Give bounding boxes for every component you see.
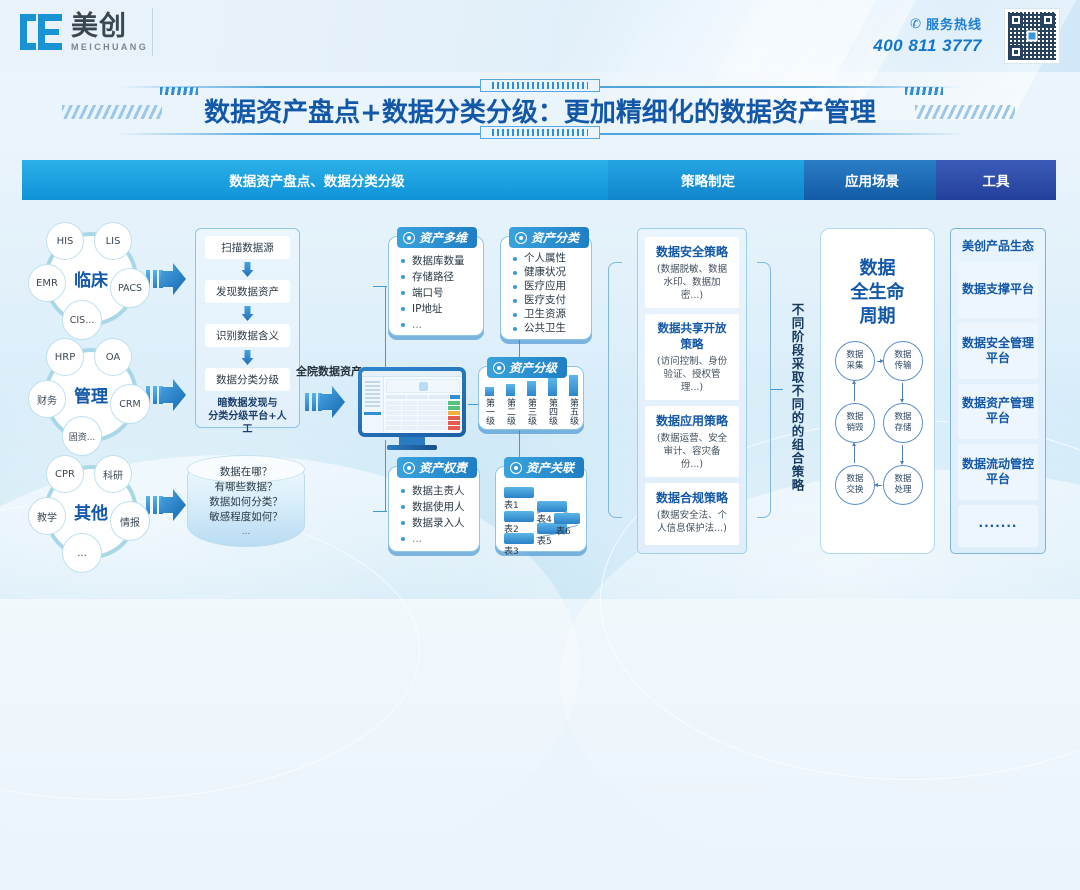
nav-step-4[interactable]: 工具 [936,160,1056,200]
policy-desc: (数据脱敏、数据水印、数据加密...) [653,263,731,302]
cluster-bubble[interactable]: PACS [110,268,150,308]
cluster-bubble[interactable]: 情报 [110,501,150,541]
card-header: 资产权责 [397,457,477,478]
policy-title: 数据应用策略 [653,412,731,429]
policy-card: 数据应用策略 (数据运营、安全审计、容灾备份...) [645,406,739,477]
asset-card-classification: 资产分类 个人属性 健康状况 医疗应用 医疗支付 卫生资源 公共卫生 [500,236,592,340]
policy-desc: (数据安全法、个人信息保护法...) [653,509,731,535]
grade-level: 第二级 [501,384,519,425]
card-header: 资产多维 [397,227,477,248]
brand-name-en: MEICHUANG [71,43,148,52]
lifecycle-arrow-icon [854,445,855,463]
logo-divider [152,8,153,56]
discovery-process-box: 扫描数据源 发现数据资产 识别数据含义 数据分类分级 暗数据发现与 分类分级平台… [195,228,300,428]
relation-table-label: 表1 [504,498,519,511]
lifecycle-node-collect: 数据采集 [835,341,875,381]
meichuang-logo-icon [18,12,64,52]
source-cluster-management: 管理 HRP OA 财务 CRM 固资... [32,338,150,456]
grade-label: 第三级 [526,398,536,425]
card-header: 资产关联 [504,457,584,478]
card-item: 医疗应用 [513,279,591,293]
lifecycle-title-line1: 数据 [821,257,934,281]
card-item: 公共卫生 [513,321,591,335]
brand-name-cn: 美创 [71,13,148,40]
ecosystem-title: 美创产品生态 [958,235,1038,257]
card-item: 医疗支付 [513,293,591,307]
process-step: 发现数据资产 [205,280,290,303]
policy-title: 数据合规策略 [653,489,731,506]
lifecycle-node-process: 数据处理 [883,465,923,505]
policy-card: 数据共享开放策略 (访问控制、身份验证、授权管理...) [645,314,739,400]
lifecycle-arrow-icon [874,483,878,487]
combination-strategy-text: 不同阶段采取不同的的组合策略 [790,303,805,492]
flow-arrow-icon [146,488,186,522]
policy-title: 数据安全策略 [653,243,731,260]
asset-card-dimension: 资产多维 数据库数量 存储路径 端口号 IP地址 ... [388,236,484,336]
down-arrow-icon [242,350,254,365]
cluster-bubble[interactable]: 财务 [28,380,66,418]
nav-step-2-label: 策略制定 [681,170,735,190]
policy-desc: (访问控制、身份验证、授权管理...) [653,355,731,394]
hotline-number: 400 811 3777 [873,36,982,56]
card-title: 资产权责 [419,459,467,476]
card-item: 数据使用人 [401,499,479,515]
process-nav-band: 数据资产盘点、数据分类分级 策略制定 应用场景 工具 [22,160,1062,200]
flow-arrow-icon [146,262,186,296]
process-step: 识别数据含义 [205,324,290,347]
cluster-bubble[interactable]: CIS... [62,300,102,340]
title-banner: 数据资产盘点+数据分类分级：更加精细化的数据资产管理 [0,76,1080,144]
cluster-bubble[interactable]: 固资... [62,416,102,456]
service-hotline: ✆ 服务热线 400 811 3777 [873,14,982,56]
card-item: 健康状况 [513,265,591,279]
lifecycle-node-destroy: 数据销毁 [835,403,875,443]
nav-step-2[interactable]: 策略制定 [608,160,808,200]
card-item: IP地址 [401,301,483,317]
platform-item[interactable]: 数据支撑平台 [958,262,1038,318]
lifecycle-title-line2: 全生命 [821,281,934,305]
relation-table-label: 表6 [556,524,571,537]
lifecycle-arrow-icon [852,380,856,384]
platform-item[interactable]: 数据安全管理平台 [958,323,1038,379]
card-header: 资产分类 [509,227,589,248]
cluster-bubble[interactable]: LIS [94,222,132,260]
policy-title: 数据共享开放策略 [653,320,731,352]
cluster-bubble[interactable]: EMR [28,264,66,302]
card-item: ... [401,317,483,333]
cluster-bubble[interactable]: CRM [110,384,150,424]
question-item: 有哪些数据？ [187,480,305,495]
page-title: 数据资产盘点+数据分类分级：更加精细化的数据资产管理 [0,92,1080,129]
nav-step-1[interactable]: 数据资产盘点、数据分类分级 [22,160,612,200]
process-step: 扫描数据源 [205,236,290,259]
policy-panel: 数据安全策略 (数据脱敏、数据水印、数据加密...) 数据共享开放策略 (访问控… [637,228,747,554]
lifecycle-arrow-icon [852,442,856,446]
card-item: 卫生资源 [513,307,591,321]
connector-line [385,286,386,368]
card-item: 端口号 [401,285,483,301]
policy-desc: (数据运营、安全审计、容灾备份...) [653,432,731,471]
qr-code-icon[interactable] [1004,8,1060,64]
combination-strategy-note: 不同阶段采取不同的的组合策略 [784,285,810,510]
card-header: 资产分级 [487,357,567,378]
policy-card: 数据合规策略 (数据安全法、个人信息保护法...) [645,483,739,545]
brace-right [757,262,771,518]
relation-table-block [537,501,567,512]
cluster-bubble[interactable]: 教学 [28,497,66,535]
card-item: 数据主责人 [401,483,479,499]
card-title: 资产多维 [419,229,467,246]
relation-table-block [504,533,534,544]
platform-item[interactable]: 数据流动管控平台 [958,444,1038,500]
grade-label: 第五级 [568,398,578,425]
relation-table-label: 表3 [504,544,519,557]
cluster-bubble[interactable]: HIS [46,222,84,260]
platform-item[interactable]: ······· [958,505,1038,547]
connector-line [385,440,386,512]
nav-step-3[interactable]: 应用场景 [804,160,940,200]
data-lifecycle-panel: 数据 全生命 周期 数据采集 数据传输 数据销毁 数据存储 数据交换 数据处理 [820,228,935,554]
grade-label: 第一级 [484,398,494,425]
dashboard-monitor[interactable] [358,367,466,451]
lifecycle-node-transmit: 数据传输 [883,341,923,381]
gear-icon [515,232,527,244]
cluster-bubble[interactable]: HRP [46,338,84,376]
gear-icon [403,462,415,474]
lifecycle-arrow-icon [854,383,855,401]
card-item: 个人属性 [513,251,591,265]
grade-level: 第三级 [522,381,540,425]
infographic-canvas: 美创 MEICHUANG ✆ 服务热线 400 811 3777 数据资产盘点+… [0,0,1080,599]
process-step: 数据分类分级 [205,368,290,391]
grade-level: 第四级 [543,378,561,425]
card-title: 资产分类 [531,229,579,246]
grade-level: 第一级 [480,387,498,425]
source-cluster-other: 其他 CPR 科研 教学 情报 ... [32,455,150,573]
lifecycle-node-store: 数据存储 [883,403,923,443]
question-item: ... [187,525,305,540]
cluster-bubble[interactable]: 科研 [94,455,132,493]
relation-table-block [504,511,534,522]
flow-arrow-icon [305,385,345,419]
monitor-stand [399,437,425,445]
gear-icon [403,232,415,244]
question-item: 敏感程度如何？ [187,510,305,525]
source-cluster-clinical: 临床 HIS LIS EMR PACS CIS... [32,222,150,340]
lifecycle-title-line3: 周期 [821,305,934,329]
connector-line [373,286,387,287]
card-item: 数据录入人 [401,515,479,531]
grade-level: 第五级 [564,375,582,425]
dashboard-screen [362,371,462,433]
lifecycle-arrow-icon [900,461,904,465]
question-item: 数据在哪？ [187,465,305,480]
card-item: 存储路径 [401,269,483,285]
brand-logo: 美创 MEICHUANG [18,12,148,52]
monitor-label: 全院数据资产 [296,363,362,379]
card-item: ... [401,531,479,547]
nav-step-1-label: 数据资产盘点、数据分类分级 [229,170,405,190]
process-footer-line1: 暗数据发现与 [205,397,290,410]
policy-card: 数据安全策略 (数据脱敏、数据水印、数据加密...) [645,237,739,308]
down-arrow-icon [242,306,254,321]
relation-table-block [554,513,580,524]
product-ecosystem-panel: 美创产品生态 数据支撑平台 数据安全管理平台 数据资产管理平台 数据流动管控平台… [950,228,1046,554]
flow-arrow-icon [146,378,186,412]
down-arrow-icon [242,262,254,277]
grade-label: 第四级 [547,398,557,425]
nav-step-4-label: 工具 [983,170,1010,190]
gear-icon [510,462,522,474]
hotline-label: 服务热线 [926,14,982,33]
cluster-bubble[interactable]: ... [62,533,102,573]
relation-table-label: 表5 [537,534,552,547]
relation-table-block [504,487,534,498]
card-title: 资产分级 [509,359,557,376]
lifecycle-node-exchange: 数据交换 [835,465,875,505]
card-title: 资产关联 [526,459,574,476]
connector-line [771,389,783,390]
tick-pill-top [480,79,600,92]
asset-card-responsibility: 资产权责 数据主责人 数据使用人 数据录入人 ... [388,466,480,552]
platform-item[interactable]: 数据资产管理平台 [958,384,1038,440]
nav-step-3-label: 应用场景 [845,170,899,190]
question-item: 数据如何分类？ [187,495,305,510]
cluster-bubble[interactable]: CPR [46,455,84,493]
process-footer-line2: 分类分级平台+人工 [205,410,290,436]
connector-line [373,511,387,512]
lifecycle-arrow-icon [900,399,904,403]
lifecycle-arrow-icon [880,359,884,363]
asset-card-relation: 资产关联 表1 表2 表3 表4 表5 表6 [495,466,587,552]
questions-cylinder: 数据在哪？ 有哪些数据？ 数据如何分类？ 敏感程度如何？ ... [187,455,305,547]
phone-icon: ✆ [910,16,922,32]
card-item: 数据库数量 [401,253,483,269]
monitor-base [387,445,437,450]
grade-label: 第二级 [505,398,515,425]
cluster-bubble[interactable]: OA [94,338,132,376]
brace-left [608,262,622,518]
asset-card-grade: 资产分级 第一级 第二级 第三级 第四级 第五级 [478,366,584,430]
gear-icon [493,362,505,374]
